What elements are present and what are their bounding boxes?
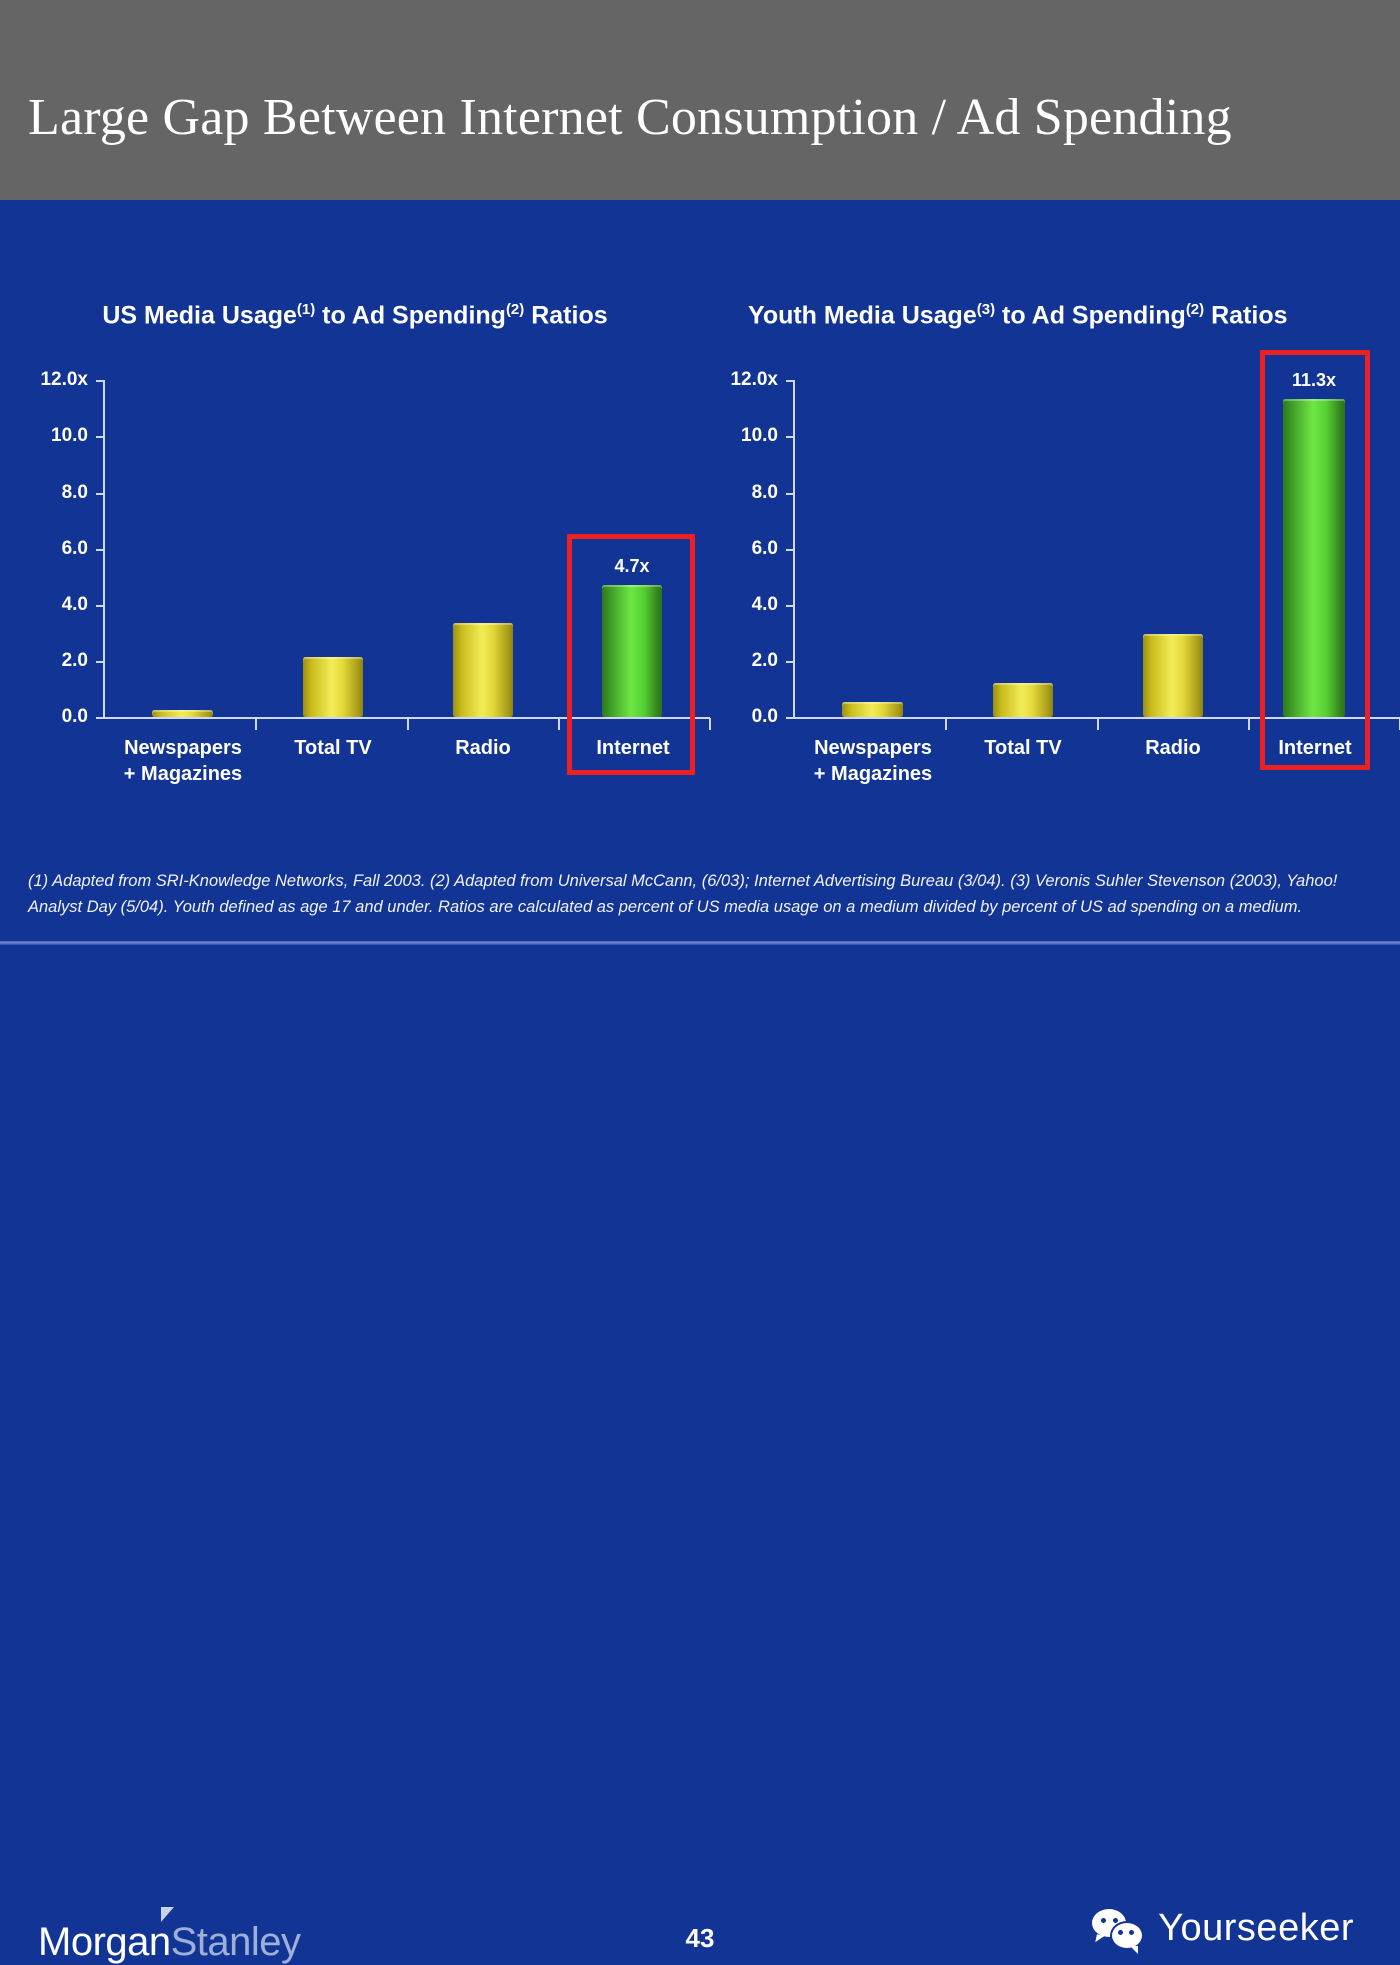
y-tick-label-10: 10.0 (12, 425, 88, 447)
x-tick-sep-3 (1248, 718, 1250, 730)
x-tick-sep-1 (255, 718, 257, 730)
brand-watermark: Yourseeker (1092, 1907, 1354, 1950)
category-label-total-tv: Total TV (948, 735, 1098, 761)
category-label-line-1: Newspapers (800, 735, 946, 761)
bar-total-tv (303, 657, 363, 717)
y-tick-label-10: 10.0 (702, 425, 778, 447)
slide-footer: MorganStanley 43 Yourseeker (0, 945, 1400, 1042)
y-tick-label-12: 12.0x (702, 369, 778, 391)
chart-panel-left: US Media Usage(1) to Ad Spending(2) Rati… (0, 200, 710, 930)
y-tick-4 (96, 605, 105, 607)
y-tick-0 (786, 717, 795, 719)
category-label-line-2: + Magazines (800, 761, 946, 787)
chart-panel-right: Youth Media Usage(3) to Ad Spending(2) R… (690, 200, 1400, 930)
y-tick-8 (786, 493, 795, 495)
y-tick-label-4: 4.0 (12, 594, 88, 616)
wechat-eye-2 (1113, 1918, 1118, 1923)
category-label-line-2: + Magazines (110, 761, 256, 787)
y-tick-12 (96, 380, 105, 382)
y-tick-10 (96, 436, 105, 438)
x-tick-sep-2 (407, 718, 409, 730)
slide-body: US Media Usage(1) to Ad Spending(2) Rati… (0, 200, 1400, 930)
category-label-internet: Internet (1240, 735, 1390, 761)
x-tick-sep-3 (558, 718, 560, 730)
wechat-eye-4 (1129, 1930, 1134, 1935)
y-tick-label-8: 8.0 (12, 482, 88, 504)
footnotes: (1) Adapted from SRI-Knowledge Networks,… (28, 868, 1373, 920)
bar-newspapers-magazines (152, 710, 213, 717)
y-tick-8 (96, 493, 105, 495)
category-label-newspapers-magazines: Newspapers + Magazines (110, 735, 256, 787)
bar-radio (453, 623, 513, 717)
plot-area-left: 12.0x 10.0 8.0 6.0 4.0 2.0 0.0 (0, 200, 710, 930)
y-tick-10 (786, 436, 795, 438)
y-tick-label-2: 2.0 (12, 650, 88, 672)
category-label-radio: Radio (1098, 735, 1248, 761)
bar-radio (1143, 634, 1203, 717)
y-tick-label-0: 0.0 (12, 706, 88, 728)
bar-newspapers-magazines (842, 702, 903, 717)
category-label-newspapers-magazines: Newspapers + Magazines (800, 735, 946, 787)
y-tick-label-12: 12.0x (12, 369, 88, 391)
brand-name: Yourseeker (1158, 1907, 1354, 1950)
slide-header: Large Gap Between Internet Consumption /… (0, 0, 1400, 200)
x-tick-sep-1 (945, 718, 947, 730)
y-tick-12 (786, 380, 795, 382)
y-tick-label-6: 6.0 (12, 538, 88, 560)
y-tick-label-8: 8.0 (702, 482, 778, 504)
y-tick-4 (786, 605, 795, 607)
y-tick-2 (96, 661, 105, 663)
morgan-stanley-mark-icon (161, 1907, 174, 1922)
bar-total-tv (993, 683, 1053, 717)
wechat-eye-3 (1118, 1930, 1123, 1935)
page-title: Large Gap Between Internet Consumption /… (28, 88, 1232, 147)
y-tick-6 (786, 549, 795, 551)
x-tick-sep-2 (1097, 718, 1099, 730)
wechat-icon (1092, 1909, 1146, 1949)
category-label-total-tv: Total TV (258, 735, 408, 761)
wechat-bubble-front (1110, 1921, 1144, 1950)
y-tick-label-6: 6.0 (702, 538, 778, 560)
highlight-box-internet-right (1260, 350, 1370, 770)
y-tick-2 (786, 661, 795, 663)
y-tick-label-4: 4.0 (702, 594, 778, 616)
category-label-line-1: Newspapers (110, 735, 256, 761)
y-tick-6 (96, 549, 105, 551)
y-tick-0 (96, 717, 105, 719)
y-tick-label-0: 0.0 (702, 706, 778, 728)
y-tick-label-2: 2.0 (702, 650, 778, 672)
category-label-radio: Radio (408, 735, 558, 761)
plot-area-right: 12.0x 10.0 8.0 6.0 4.0 2.0 0.0 11.3x (690, 200, 1400, 930)
category-label-internet: Internet (558, 735, 708, 761)
wechat-eye-1 (1101, 1918, 1106, 1923)
